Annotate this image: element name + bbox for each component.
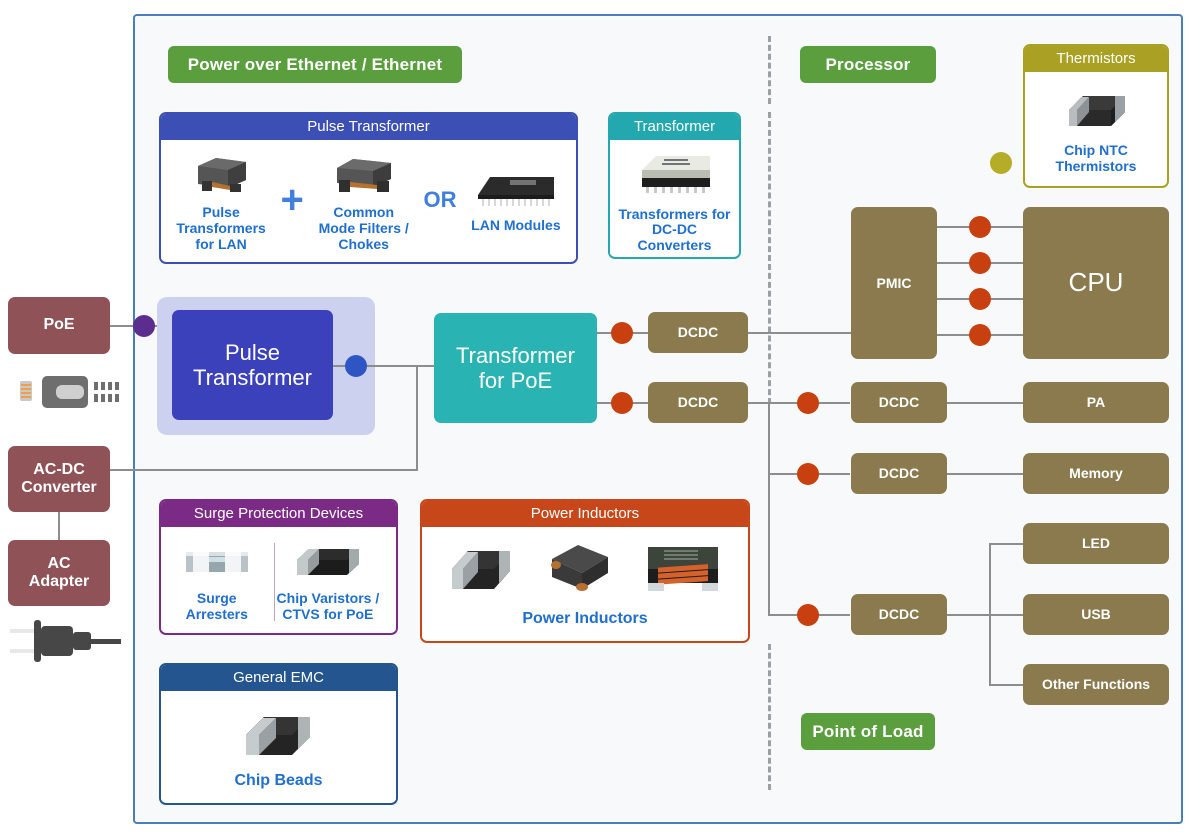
divider-dashed-top — [768, 36, 771, 104]
node-dcdc-memory-input[interactable] — [797, 463, 819, 485]
card-power-inductors[interactable]: Power Inductors — [420, 499, 750, 643]
block-pulse-transformer-label: Pulse Transformer — [193, 340, 312, 391]
block-dcdc-1-label: DCDC — [678, 324, 718, 340]
block-dcdc-2-label: DCDC — [678, 394, 718, 410]
card-item-chip-varistors-ctvs[interactable]: Chip Varistors / CTVS for PoE — [273, 536, 384, 622]
card-pulse-transformer-header: Pulse Transformer — [161, 114, 576, 140]
wire-periph-fanout-vertical — [989, 543, 991, 685]
wire-fanout-to-other-functions — [989, 684, 1023, 686]
block-cpu-label: CPU — [1069, 268, 1124, 298]
card-item-label: Chip Beads — [234, 772, 322, 790]
block-usb-label: USB — [1081, 606, 1111, 622]
chip-bead-component-icon — [234, 709, 322, 768]
block-ac-adapter[interactable]: AC Adapter — [8, 540, 110, 606]
chip-ntc-thermistor-component-icon — [1059, 88, 1133, 139]
card-item-surge-arresters[interactable]: Surge Arresters — [174, 536, 260, 622]
node-poe-surge-point[interactable] — [133, 315, 155, 337]
shielded-power-inductor-component-icon — [538, 539, 620, 604]
power-inductor-icon-row — [442, 539, 728, 604]
block-pmic[interactable]: PMIC — [851, 207, 937, 359]
tag-point-of-load: Point of Load — [801, 713, 935, 750]
divider-dashed-lower — [768, 644, 771, 790]
node-pmic-cpu-rail-2[interactable] — [969, 252, 991, 274]
node-thermistor-sense[interactable] — [990, 152, 1012, 174]
diagram-canvas: PoE AC-DC Converter AC Adapter — [0, 0, 1200, 834]
block-dcdc-memory[interactable]: DCDC — [851, 453, 947, 494]
wirewound-power-inductor-component-icon — [638, 539, 728, 604]
block-led[interactable]: LED — [1023, 523, 1169, 564]
block-dcdc-pa[interactable]: DCDC — [851, 382, 947, 423]
common-mode-choke-component-icon — [327, 154, 401, 201]
card-item-common-mode-filters-chokes[interactable]: Common Mode Filters / Chokes — [315, 148, 413, 252]
card-item-transformers-for-dcdc[interactable]: Transformers for DC-DC Converters — [610, 142, 739, 254]
block-ac-dc-converter[interactable]: AC-DC Converter — [8, 446, 110, 512]
wire-dcdc-to-usb — [947, 614, 1023, 616]
block-dcdc-peripherals[interactable]: DCDC — [851, 594, 947, 635]
tag-processor-label: Processor — [826, 55, 911, 75]
block-ac-adapter-label: AC Adapter — [29, 555, 89, 592]
tag-poe-ethernet: Power over Ethernet / Ethernet — [168, 46, 462, 83]
block-pmic-label: PMIC — [877, 275, 912, 291]
wire-acdc-to-bus — [110, 469, 417, 471]
block-other-functions[interactable]: Other Functions — [1023, 664, 1169, 705]
wire-dcdc-to-pa — [947, 402, 1023, 404]
block-led-label: LED — [1082, 535, 1110, 551]
block-dcdc-peripherals-label: DCDC — [879, 606, 919, 622]
card-transformer-header: Transformer — [610, 114, 739, 140]
card-item-pulse-transformers-for-lan[interactable]: Pulse Transformers for LAN — [172, 148, 269, 252]
operator-or-label: OR — [423, 189, 456, 211]
card-pulse-transformer[interactable]: Pulse Transformer Pulse Transformers for… — [159, 112, 578, 264]
wire-acdc-to-adapter — [58, 512, 60, 540]
node-dcdc-periph-input[interactable] — [797, 604, 819, 626]
block-poe[interactable]: PoE — [8, 297, 110, 354]
card-item-label: Pulse Transformers for LAN — [176, 205, 265, 252]
block-dcdc-pa-label: DCDC — [879, 394, 919, 410]
node-dcdc-pa-input[interactable] — [797, 392, 819, 414]
card-transformer[interactable]: Transformer — [608, 112, 741, 259]
block-transformer-for-poe[interactable]: Transformer for PoE — [434, 313, 597, 423]
card-item-label: Chip NTC Thermistors — [1056, 143, 1137, 174]
rj45-connector-icon — [6, 372, 126, 412]
card-item-chip-beads[interactable]: Chip Beads — [230, 703, 326, 790]
card-item-label: Chip Varistors / CTVS for PoE — [277, 591, 380, 622]
card-item-label: Transformers for DC-DC Converters — [614, 207, 735, 254]
block-pa-label: PA — [1087, 394, 1105, 410]
node-pmic-cpu-rail-4[interactable] — [969, 324, 991, 346]
wire-pol-vertical-bus — [768, 402, 770, 614]
block-ac-dc-converter-label: AC-DC Converter — [21, 461, 97, 498]
card-thermistors-header: Thermistors — [1025, 46, 1167, 72]
block-memory[interactable]: Memory — [1023, 453, 1169, 494]
operator-plus-icon: + — [281, 180, 304, 220]
block-cpu[interactable]: CPU — [1023, 207, 1169, 359]
tag-processor: Processor — [800, 46, 936, 83]
card-thermistors[interactable]: Thermistors Chip NTC Thermistors — [1023, 44, 1169, 188]
divider-dashed-upper — [768, 112, 771, 404]
card-general-emc-header: General EMC — [161, 665, 396, 691]
card-general-emc[interactable]: General EMC Chip Beads — [159, 663, 398, 805]
node-pmic-cpu-rail-3[interactable] — [969, 288, 991, 310]
block-memory-label: Memory — [1069, 465, 1123, 481]
tag-point-of-load-label: Point of Load — [812, 722, 923, 742]
node-dcdc2-input[interactable] — [611, 392, 633, 414]
lan-module-component-icon — [472, 167, 560, 214]
block-other-functions-label: Other Functions — [1042, 676, 1150, 692]
card-surge-protection-devices[interactable]: Surge Protection Devices Surge Arresters — [159, 499, 398, 635]
card-item-label: Surge Arresters — [186, 591, 248, 622]
block-dcdc-memory-label: DCDC — [879, 465, 919, 481]
wire-drop-to-acdc-bus — [416, 365, 418, 471]
chip-varistor-component-icon — [289, 542, 367, 587]
block-transformer-for-poe-label: Transformer for PoE — [456, 343, 575, 394]
block-dcdc-2[interactable]: DCDC — [648, 382, 748, 423]
tag-poe-ethernet-label: Power over Ethernet / Ethernet — [188, 55, 442, 75]
card-divider — [274, 543, 275, 621]
card-item-label: Power Inductors — [522, 610, 647, 628]
wire-dcdc1-to-pmic — [748, 332, 853, 334]
ac-plug-icon — [6, 612, 126, 668]
pulse-transformer-component-icon — [186, 154, 256, 201]
wire-fanout-to-led — [989, 543, 1023, 545]
card-power-inductors-header: Power Inductors — [422, 501, 748, 527]
node-pulse-transformer-output[interactable] — [345, 355, 367, 377]
card-item-lan-modules[interactable]: LAN Modules — [467, 161, 564, 234]
surge-arrester-component-icon — [178, 542, 256, 587]
node-pmic-cpu-rail-1[interactable] — [969, 216, 991, 238]
block-pa[interactable]: PA — [1023, 382, 1169, 423]
block-usb[interactable]: USB — [1023, 594, 1169, 635]
power-inductor-component-icon — [442, 541, 520, 602]
node-dcdc1-input[interactable] — [611, 322, 633, 344]
card-item-label: LAN Modules — [471, 218, 560, 234]
block-pulse-transformer[interactable]: Pulse Transformer — [172, 310, 333, 420]
dcdc-transformer-component-icon — [630, 148, 720, 203]
block-poe-label: PoE — [43, 316, 74, 334]
card-item-label: Common Mode Filters / Chokes — [319, 205, 409, 252]
card-item-chip-ntc-thermistors[interactable]: Chip NTC Thermistors — [1052, 82, 1141, 174]
wire-dcdc-to-memory — [947, 473, 1023, 475]
block-dcdc-1[interactable]: DCDC — [648, 312, 748, 353]
card-surge-protection-header: Surge Protection Devices — [161, 501, 396, 527]
